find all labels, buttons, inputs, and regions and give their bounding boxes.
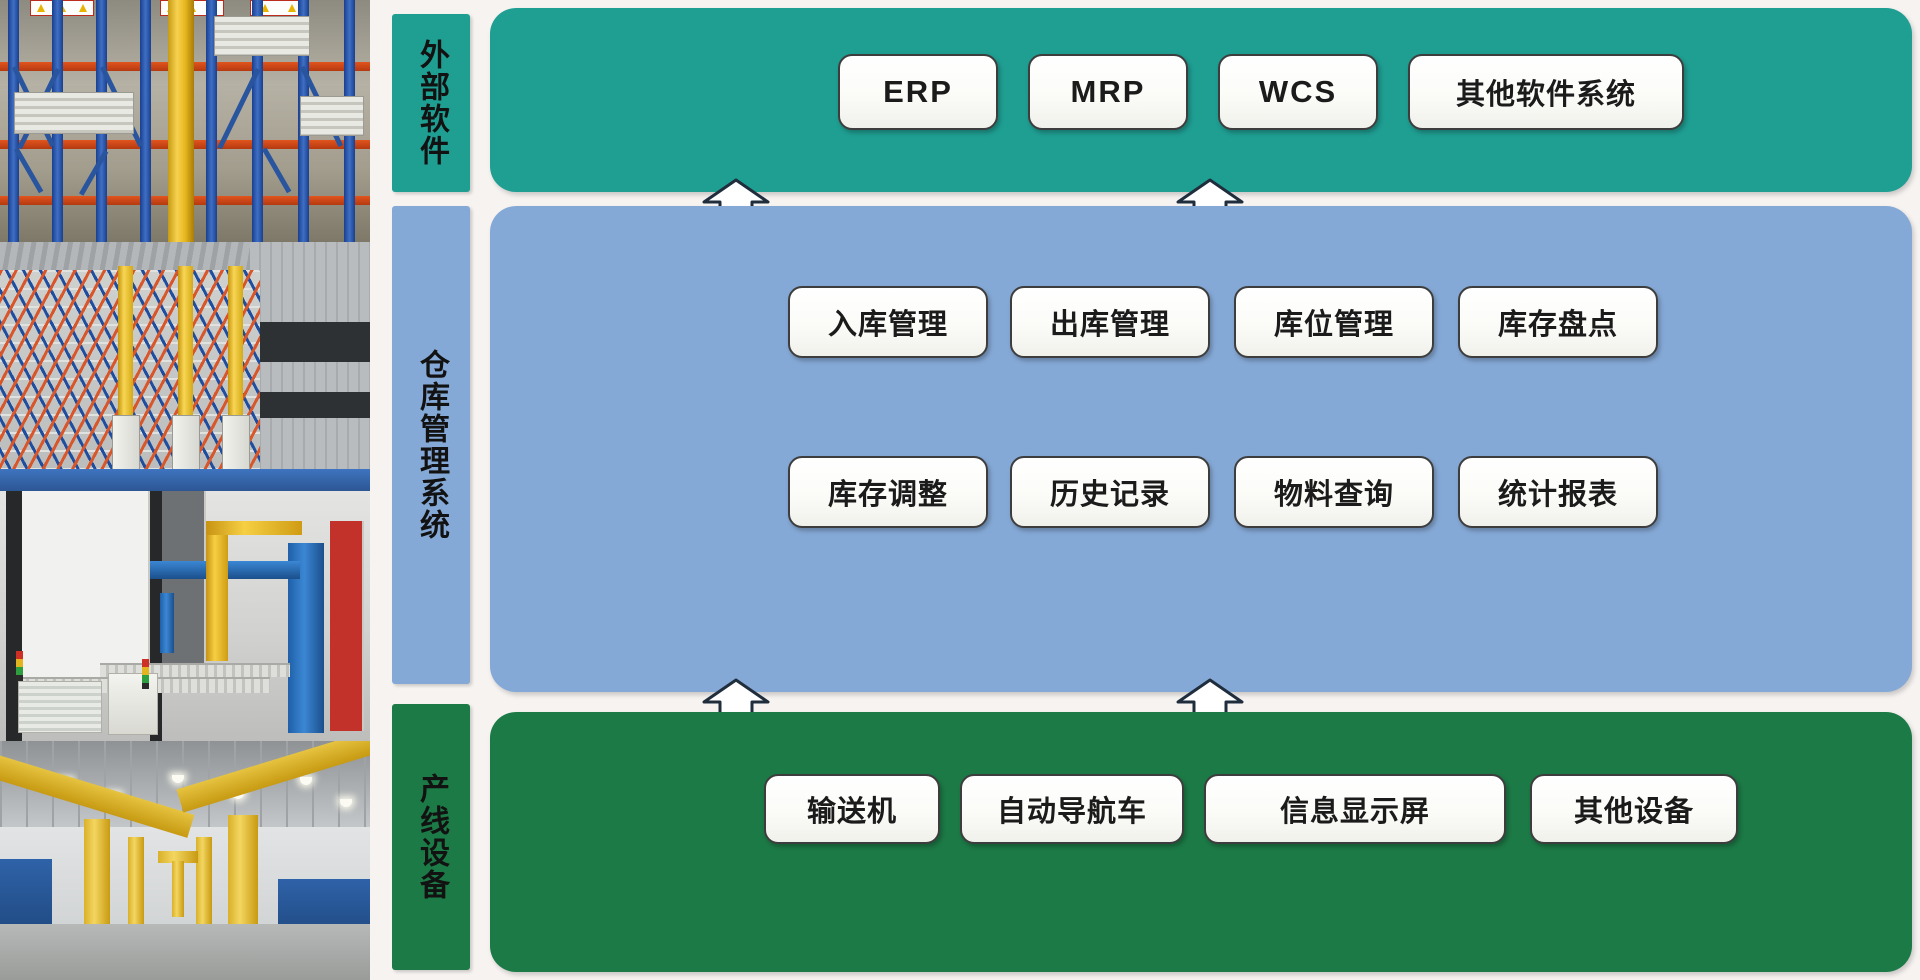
chip-wcs[interactable]: WCS — [1218, 54, 1378, 130]
chip-agv[interactable]: 自动导航车 — [960, 774, 1184, 844]
photo-production-line-gantry-columns — [0, 741, 370, 980]
layer-band-warehouse-management-system: 入库管理 出库管理 库位管理 库存盘点 库存调整 历史记录 物料查询 统计报表 — [490, 206, 1912, 692]
layer-label-production-line-equipment: 产线设备 — [392, 704, 470, 970]
chip-material-query[interactable]: 物料查询 — [1234, 456, 1434, 528]
system-architecture-diagram: 外部软件 ERP MRP WCS 其他软件系统 仓库管理系统 入库管理 出库管理… — [370, 0, 1920, 980]
chip-history-records[interactable]: 历史记录 — [1010, 456, 1210, 528]
chip-information-display-screen[interactable]: 信息显示屏 — [1204, 774, 1506, 844]
chip-location-management[interactable]: 库位管理 — [1234, 286, 1434, 358]
photo-column — [0, 0, 370, 980]
photo-gantry-robot-palletizing-line — [0, 491, 370, 741]
chip-inventory-adjustment[interactable]: 库存调整 — [788, 456, 988, 528]
chip-other-equipment[interactable]: 其他设备 — [1530, 774, 1738, 844]
chip-erp[interactable]: ERP — [838, 54, 998, 130]
chip-inventory-count[interactable]: 库存盘点 — [1458, 286, 1658, 358]
layer-label-warehouse-management-system: 仓库管理系统 — [392, 206, 470, 684]
layer-band-production-line-equipment: 输送机 自动导航车 信息显示屏 其他设备 — [490, 712, 1912, 972]
chip-other-software-systems[interactable]: 其他软件系统 — [1408, 54, 1684, 130]
chip-mrp[interactable]: MRP — [1028, 54, 1188, 130]
chip-outbound-management[interactable]: 出库管理 — [1010, 286, 1210, 358]
chip-statistical-reports[interactable]: 统计报表 — [1458, 456, 1658, 528]
photo-asrs-stacker-crane-aisle — [0, 242, 370, 491]
chip-inbound-management[interactable]: 入库管理 — [788, 286, 988, 358]
layer-label-external-software: 外部软件 — [392, 14, 470, 192]
screenshot-root: 外部软件 ERP MRP WCS 其他软件系统 仓库管理系统 入库管理 出库管理… — [0, 0, 1920, 980]
photo-automated-high-bay-racking — [0, 0, 370, 242]
layer-band-external-software: ERP MRP WCS 其他软件系统 — [490, 8, 1912, 192]
chip-conveyor[interactable]: 输送机 — [764, 774, 940, 844]
